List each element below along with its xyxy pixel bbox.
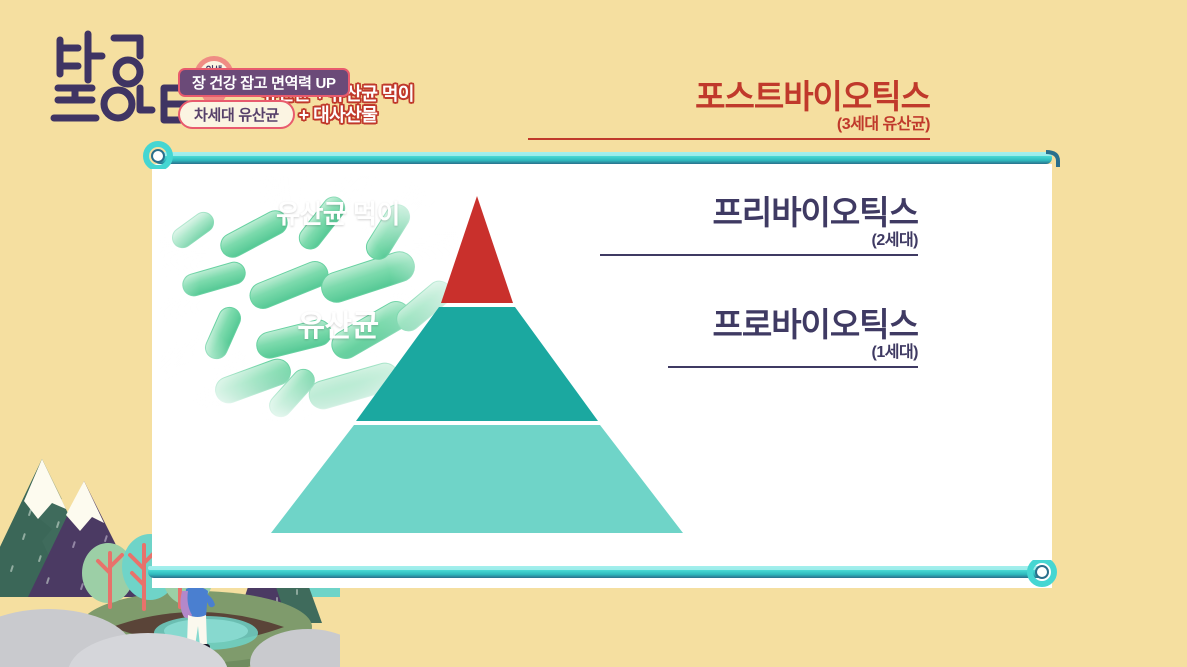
frame-rail-bottom — [140, 560, 1060, 588]
topic-badge: 장 건강 잡고 면역력 UP — [178, 68, 350, 97]
generation-3-name: 포스트바이오틱스 — [528, 80, 930, 113]
generation-1-block: 프로바이오틱스 (1세대) — [668, 308, 918, 368]
subtopic-badge: 차세대 유산균 — [178, 100, 295, 129]
generation-3-sub: (3세대 유산균) — [528, 117, 930, 133]
generation-1-sub: (1세대) — [668, 345, 918, 361]
generation-2-block: 프리바이오틱스 (2세대) — [600, 196, 918, 256]
generation-2-name: 프리바이오틱스 — [600, 196, 918, 229]
generation-2-rule — [600, 254, 918, 256]
generation-3-rule — [528, 138, 930, 140]
generation-1-rule — [668, 366, 918, 368]
generation-3-block: 포스트바이오틱스 (3세대 유산균) — [528, 80, 930, 140]
tier-2-label: 유산균 먹이 — [188, 200, 488, 230]
pyramid-tier-1 — [271, 425, 683, 533]
generation-2-sub: (2세대) — [600, 233, 918, 249]
frame-rail-top — [140, 141, 1060, 169]
slide-stage: 유산균 + 유산균 먹이 + 대사산물 유산균 먹이 유산균 포스트바이오틱스 … — [0, 0, 1187, 667]
generation-1-name: 프로바이오틱스 — [668, 308, 918, 341]
tier-1-label: 유산균 — [188, 310, 488, 345]
